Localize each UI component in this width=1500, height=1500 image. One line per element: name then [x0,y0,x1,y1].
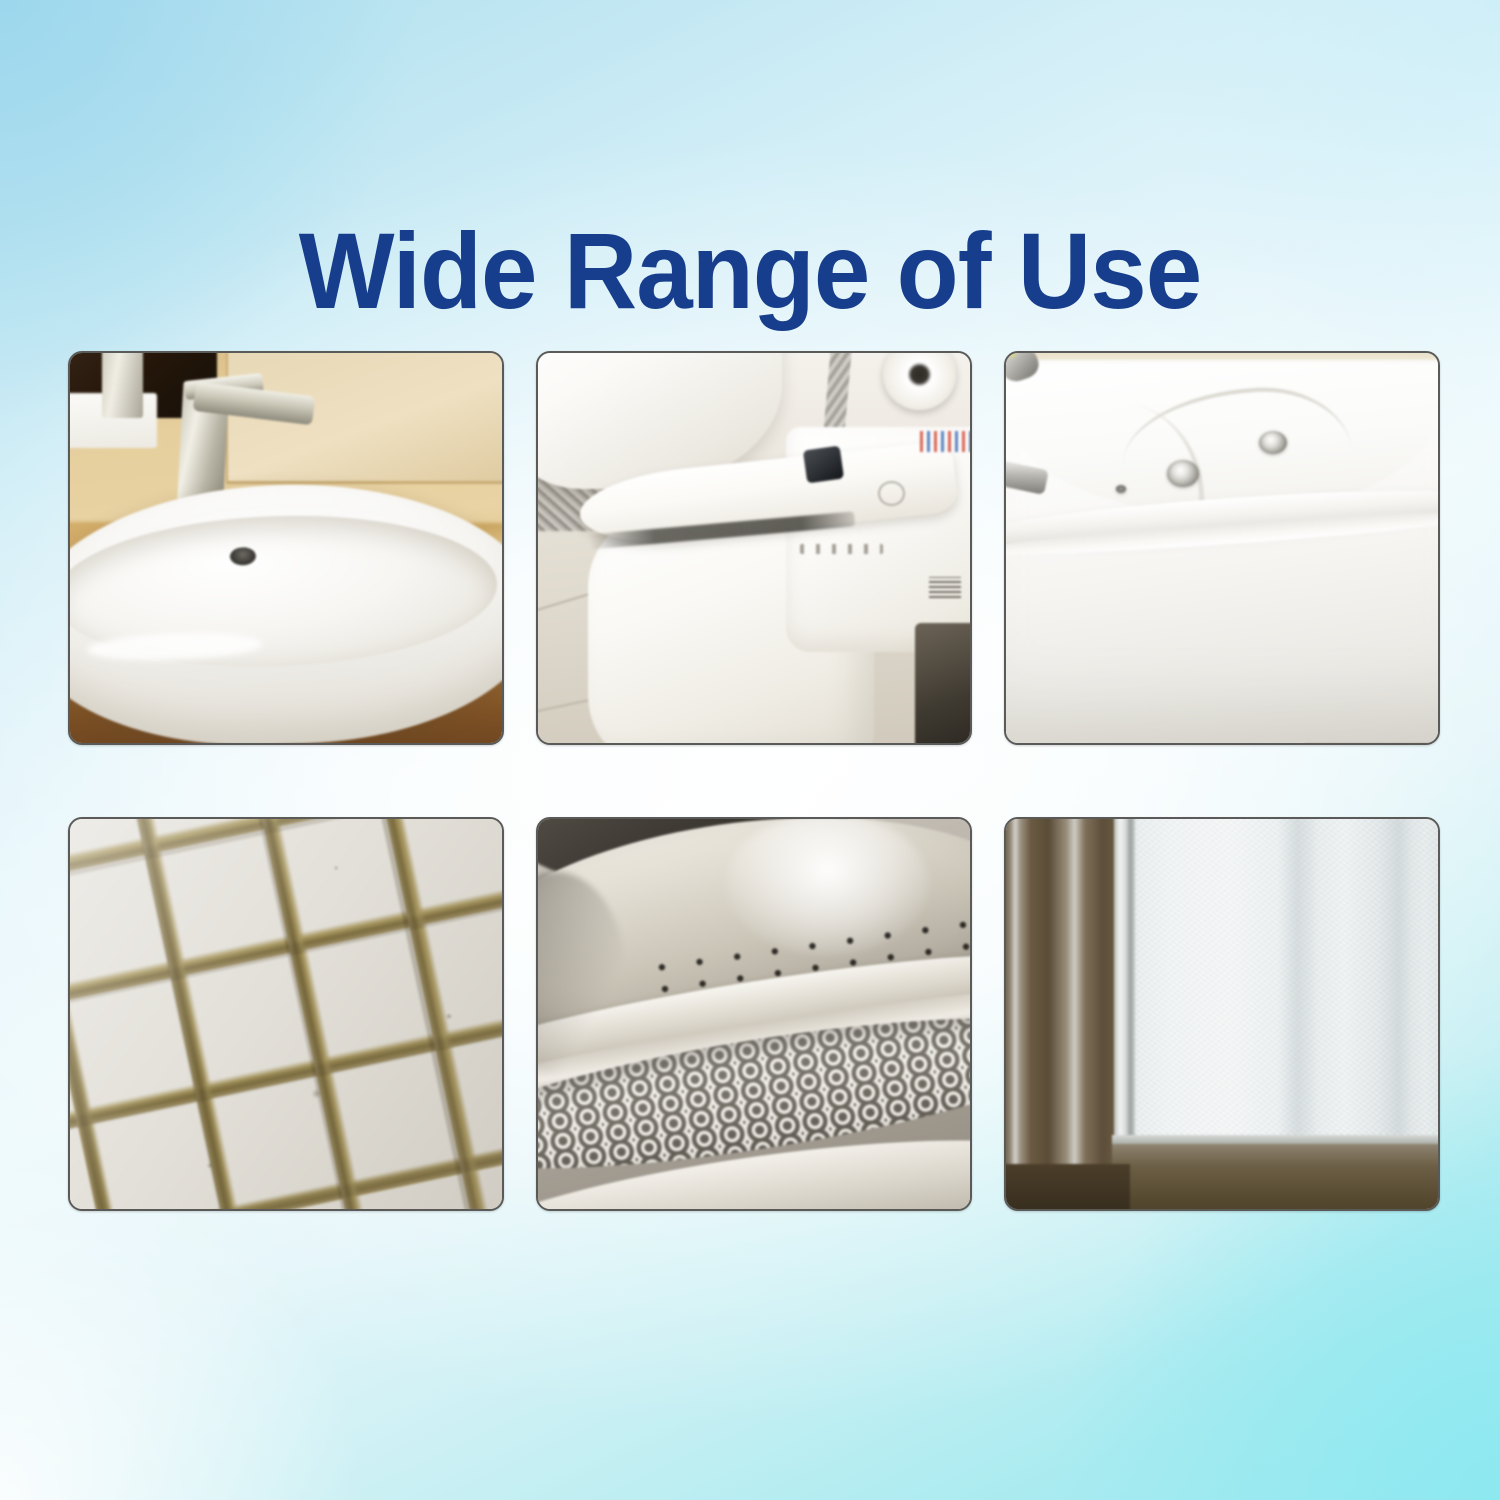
aluminium-frame-stile [1006,819,1121,1209]
glass-light-bands [1116,819,1438,1148]
toilet-photo [538,353,970,743]
sink-drain [230,547,257,566]
use-case-tile-toilet[interactable]: Smart toilet and bidet seat [536,351,972,745]
door-sill [1112,1144,1438,1209]
page-title: Wide Range of Use [45,212,1455,330]
sink-photo [70,353,502,743]
sink-secondary-faucet [102,353,143,418]
use-case-tile-sink[interactable]: Bathroom sink with chrome faucet [68,351,504,745]
toilet-side-shadow [915,623,970,743]
infographic-page: Wide Range of Use [0,0,1500,1500]
bidet-knob [802,445,843,483]
use-case-tile-tile-grout[interactable]: Tile wall with stained grout [68,817,504,1211]
bidet-indicator-lights [920,431,970,452]
glass-door-photo [1006,819,1438,1209]
door-sill-shadow [1006,1164,1130,1209]
glass-door-scene-layers [1006,819,1438,1209]
washer-drum-scene-layers [538,819,970,1209]
use-case-tile-glass-door[interactable]: Frosted glass shower door [1004,817,1440,1211]
toilet-scene-layers [538,353,970,743]
use-case-tile-washer-drum[interactable]: Stainless steel washing machine drum [536,817,972,1211]
sink-scene-layers [70,353,502,743]
corner-light-spot [1006,353,1015,356]
tile-grout-scene-layers [70,819,502,1209]
whirlpool-jet [1167,460,1199,487]
bathtub-scene-layers [1006,353,1438,743]
use-case-tile-bathtub[interactable]: Whirlpool bathtub with jets [1004,351,1440,745]
whirlpool-jet-small [1116,485,1126,493]
washer-drum-photo [538,819,970,1209]
bidet-button-row [800,544,883,554]
frosted-glass-panel [1116,819,1438,1148]
tile-lighting [70,819,502,1209]
sink-basin [70,476,502,743]
tile-grout-photo [70,819,502,1209]
bidet-power-icon [878,481,905,506]
bathtub-photo [1006,353,1438,743]
bidet-label-sticker [929,577,961,598]
aluminium-frame-inner-rail [1114,819,1135,1148]
use-case-gallery: Bathroom sink with chrome faucet [68,351,1432,1211]
